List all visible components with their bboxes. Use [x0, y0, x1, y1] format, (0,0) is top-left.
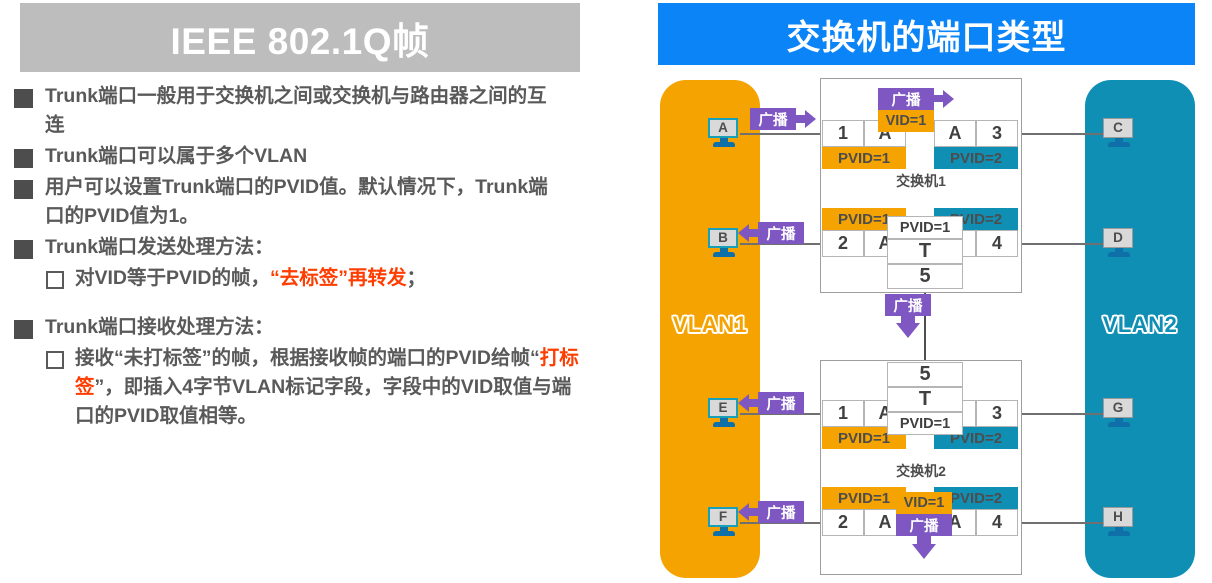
bullet-hollow-square-icon — [46, 271, 64, 289]
host-c[interactable]: C — [1103, 118, 1135, 152]
broadcast-arrow-stem — [748, 399, 759, 407]
host-label: D — [1113, 231, 1123, 245]
host-label: E — [718, 401, 727, 415]
left-banner: IEEE 802.1Q帧 — [20, 3, 580, 72]
port-number: 3 — [976, 400, 1018, 427]
sub-bullet-text: 对VID等于PVID的帧，“去标签”再转发； — [75, 264, 575, 293]
trunk-tag-flag: T — [887, 387, 963, 412]
bullet-square-icon — [14, 149, 33, 168]
trunk-pvid: PVID=1 — [887, 412, 963, 435]
broadcast-label-b: 广播 — [758, 222, 804, 244]
switch1-trunk-port[interactable]: PVID=1 T 5 — [887, 216, 963, 289]
bullet-square-icon — [14, 180, 33, 199]
port-row: A 3 — [934, 120, 1018, 147]
monitor-base — [1108, 422, 1130, 427]
switch1-port-3[interactable]: A 3 PVID=2 — [934, 120, 1018, 169]
broadcast-label-a: 广播 — [750, 108, 796, 130]
monitor-icon: E — [708, 398, 738, 418]
trunk-port-number: 5 — [887, 264, 963, 289]
monitor-base — [713, 422, 735, 427]
bullet-square-icon — [14, 240, 33, 259]
port-number: 4 — [976, 509, 1018, 536]
right-banner: 交换机的端口类型 — [658, 3, 1195, 65]
link-broadcast-label: 广播 — [885, 294, 931, 316]
bullet-square-icon — [14, 320, 33, 339]
list-item: Trunk端口一般用于交换机之间或交换机与路由器之间的互连 — [14, 82, 614, 140]
trunk-tag-flag: T — [887, 239, 963, 264]
bullet-list: Trunk端口一般用于交换机之间或交换机与路由器之间的互连 Trunk端口可以属… — [14, 82, 614, 433]
port-number: 1 — [822, 400, 864, 427]
bullet-text: Trunk端口发送处理方法： — [45, 233, 274, 262]
wire-sw1p4-d — [1020, 243, 1103, 245]
page-title-left: IEEE 802.1Q帧 — [171, 11, 430, 65]
host-b[interactable]: B — [708, 228, 740, 262]
monitor-icon: B — [708, 228, 738, 248]
broadcast-arrow-left-icon — [738, 224, 749, 242]
bullet-text: Trunk端口接收处理方法： — [45, 313, 274, 342]
broadcast-label-e: 广播 — [758, 392, 804, 414]
spacer — [14, 295, 614, 313]
host-label: B — [718, 231, 728, 245]
host-d[interactable]: D — [1103, 228, 1135, 262]
wire-a-sw1p1 — [740, 133, 825, 135]
port-pvid-badge: PVID=1 — [822, 487, 906, 509]
port-row: 2 A — [822, 509, 906, 536]
port-number: 2 — [822, 230, 864, 257]
bullet-square-icon — [14, 89, 33, 108]
monitor-icon: G — [1103, 398, 1133, 418]
trunk-pvid: PVID=1 — [887, 216, 963, 239]
host-e[interactable]: E — [708, 398, 740, 432]
list-item: Trunk端口接收处理方法： — [14, 313, 614, 342]
list-item: Trunk端口可以属于多个VLAN — [14, 142, 614, 171]
broadcast-arrow-left-icon — [738, 394, 749, 412]
vid-label: VID=1 — [878, 110, 934, 132]
monitor-base — [713, 531, 735, 536]
host-label: G — [1113, 401, 1124, 415]
switch1-label: 交换机1 — [821, 171, 1021, 191]
port-number: 4 — [976, 230, 1018, 257]
host-g[interactable]: G — [1103, 398, 1135, 432]
switch2-port-2[interactable]: PVID=1 2 A — [822, 487, 906, 536]
sub-list-item: 接收“未打标签”的帧，根据接收帧的端口的PVID给帧“打标签”，即插入4字节VL… — [46, 344, 614, 431]
host-a[interactable]: A — [708, 118, 740, 152]
wire-sw1p3-c — [1020, 133, 1103, 135]
monitor-icon: C — [1103, 118, 1133, 138]
list-item: 用户可以设置Trunk端口的PVID值。默认情况下，Trunk端口的PVID值为… — [14, 173, 614, 231]
monitor-base — [1108, 531, 1130, 536]
broadcast-arrow-stem — [748, 508, 759, 516]
broadcast-arrow-stem — [748, 229, 759, 237]
sub-bullet-highlight: “去标签”再转发 — [270, 267, 407, 289]
switch2-broadcast-tag: VID=1 广播 — [896, 492, 952, 536]
sub-bullet-text-before: 接收“未打标签”的帧，根据接收帧的端口的PVID给帧“ — [75, 347, 540, 369]
monitor-base — [713, 142, 735, 147]
host-label: A — [718, 121, 728, 135]
host-label: F — [719, 510, 727, 524]
monitor-base — [713, 252, 735, 257]
list-item: Trunk端口发送处理方法： — [14, 233, 614, 262]
page-title-right: 交换机的端口类型 — [787, 10, 1067, 59]
switch2-trunk-port[interactable]: 5 T PVID=1 — [887, 362, 963, 435]
broadcast-arrow-right-icon — [943, 90, 954, 108]
broadcast-arrow-down-icon — [896, 323, 920, 338]
host-label: H — [1113, 510, 1123, 524]
broadcast-label-f: 广播 — [758, 501, 804, 523]
switch2-label: 交换机2 — [821, 461, 1021, 481]
monitor-icon: A — [708, 118, 738, 138]
wire-sw2p3-g — [1020, 413, 1103, 415]
vid-label: VID=1 — [896, 492, 952, 514]
monitor-icon: D — [1103, 228, 1133, 248]
bullet-text: 用户可以设置Trunk端口的PVID值。默认情况下，Trunk端口的PVID值为… — [45, 173, 565, 231]
port-pvid-badge: PVID=2 — [934, 147, 1018, 169]
broadcast-arrow-down-icon — [912, 544, 936, 559]
monitor-icon: H — [1103, 507, 1133, 527]
host-f[interactable]: F — [708, 507, 740, 541]
left-panel: IEEE 802.1Q帧 Trunk端口一般用于交换机之间或交换机与路由器之间的… — [0, 0, 620, 583]
host-h[interactable]: H — [1103, 507, 1135, 541]
monitor-base — [1108, 252, 1130, 257]
right-panel: 交换机的端口类型 VLAN1 VLAN2 A B E F C — [620, 0, 1212, 583]
host-label: C — [1113, 121, 1123, 135]
port-number: 3 — [976, 120, 1018, 147]
bullet-text: Trunk端口一般用于交换机之间或交换机与路由器之间的互连 — [45, 82, 565, 140]
wire-sw2p4-h — [1020, 522, 1103, 524]
broadcast-label: 广播 — [896, 514, 952, 536]
monitor-icon: F — [708, 507, 738, 527]
bullet-hollow-square-icon — [46, 351, 64, 369]
broadcast-arrow-left-icon — [738, 503, 749, 521]
monitor-base — [1108, 142, 1130, 147]
vlan2-label: VLAN2 — [1085, 312, 1195, 338]
vlan2-zone: VLAN2 — [1085, 80, 1195, 578]
switch1-broadcast-tag: 广播 VID=1 — [878, 88, 934, 132]
sub-bullet-text-after: ； — [407, 267, 427, 289]
vlan1-label: VLAN1 — [660, 312, 760, 338]
bullet-text: Trunk端口可以属于多个VLAN — [45, 142, 307, 171]
sub-bullet-text-before: 对VID等于PVID的帧， — [75, 267, 270, 289]
port-number: 1 — [822, 120, 864, 147]
broadcast-arrow-right-icon — [805, 110, 816, 128]
sub-bullet-text: 接收“未打标签”的帧，根据接收帧的端口的PVID给帧“打标签”，即插入4字节VL… — [75, 344, 585, 431]
port-pvid-badge: PVID=1 — [822, 147, 906, 169]
port-mac: A — [934, 120, 976, 147]
broadcast-label: 广播 — [878, 88, 934, 110]
sub-bullet-text-after: ”，即插入4字节VLAN标记字段，字段中的VID取值与端口的PVID取值相等。 — [75, 376, 571, 427]
sub-list-item: 对VID等于PVID的帧，“去标签”再转发； — [46, 264, 614, 293]
port-number: 2 — [822, 509, 864, 536]
trunk-port-number: 5 — [887, 362, 963, 387]
